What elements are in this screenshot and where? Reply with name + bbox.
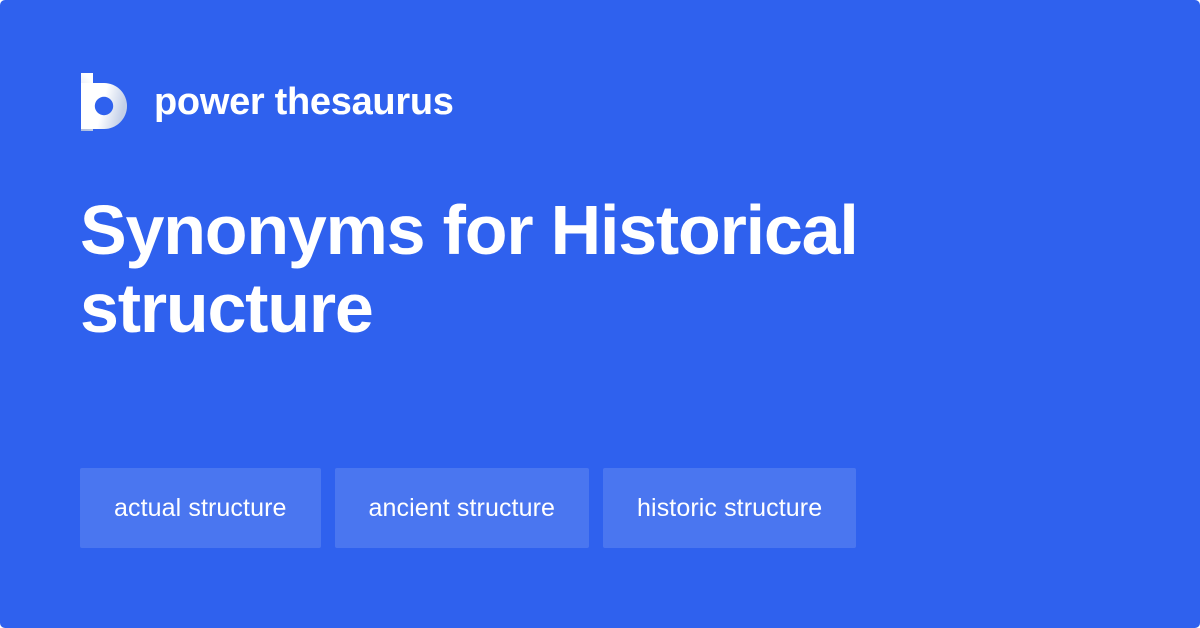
share-card: power thesaurus Synonyms for Historical … <box>0 0 1200 628</box>
synonym-chip[interactable]: historic structure <box>603 468 856 548</box>
brand-header[interactable]: power thesaurus <box>78 72 454 132</box>
synonym-chip-label: actual structure <box>114 494 287 523</box>
power-thesaurus-b-logo-icon <box>78 73 128 131</box>
synonym-chip[interactable]: ancient structure <box>335 468 590 548</box>
synonym-chip-label: ancient structure <box>369 494 556 523</box>
page-title: Synonyms for Historical structure <box>80 191 1040 348</box>
synonym-chip[interactable]: actual structure <box>80 468 321 548</box>
brand-name: power thesaurus <box>154 83 454 121</box>
synonym-chip-label: historic structure <box>637 494 822 523</box>
synonym-chip-list: actual structure ancient structure histo… <box>80 468 856 548</box>
